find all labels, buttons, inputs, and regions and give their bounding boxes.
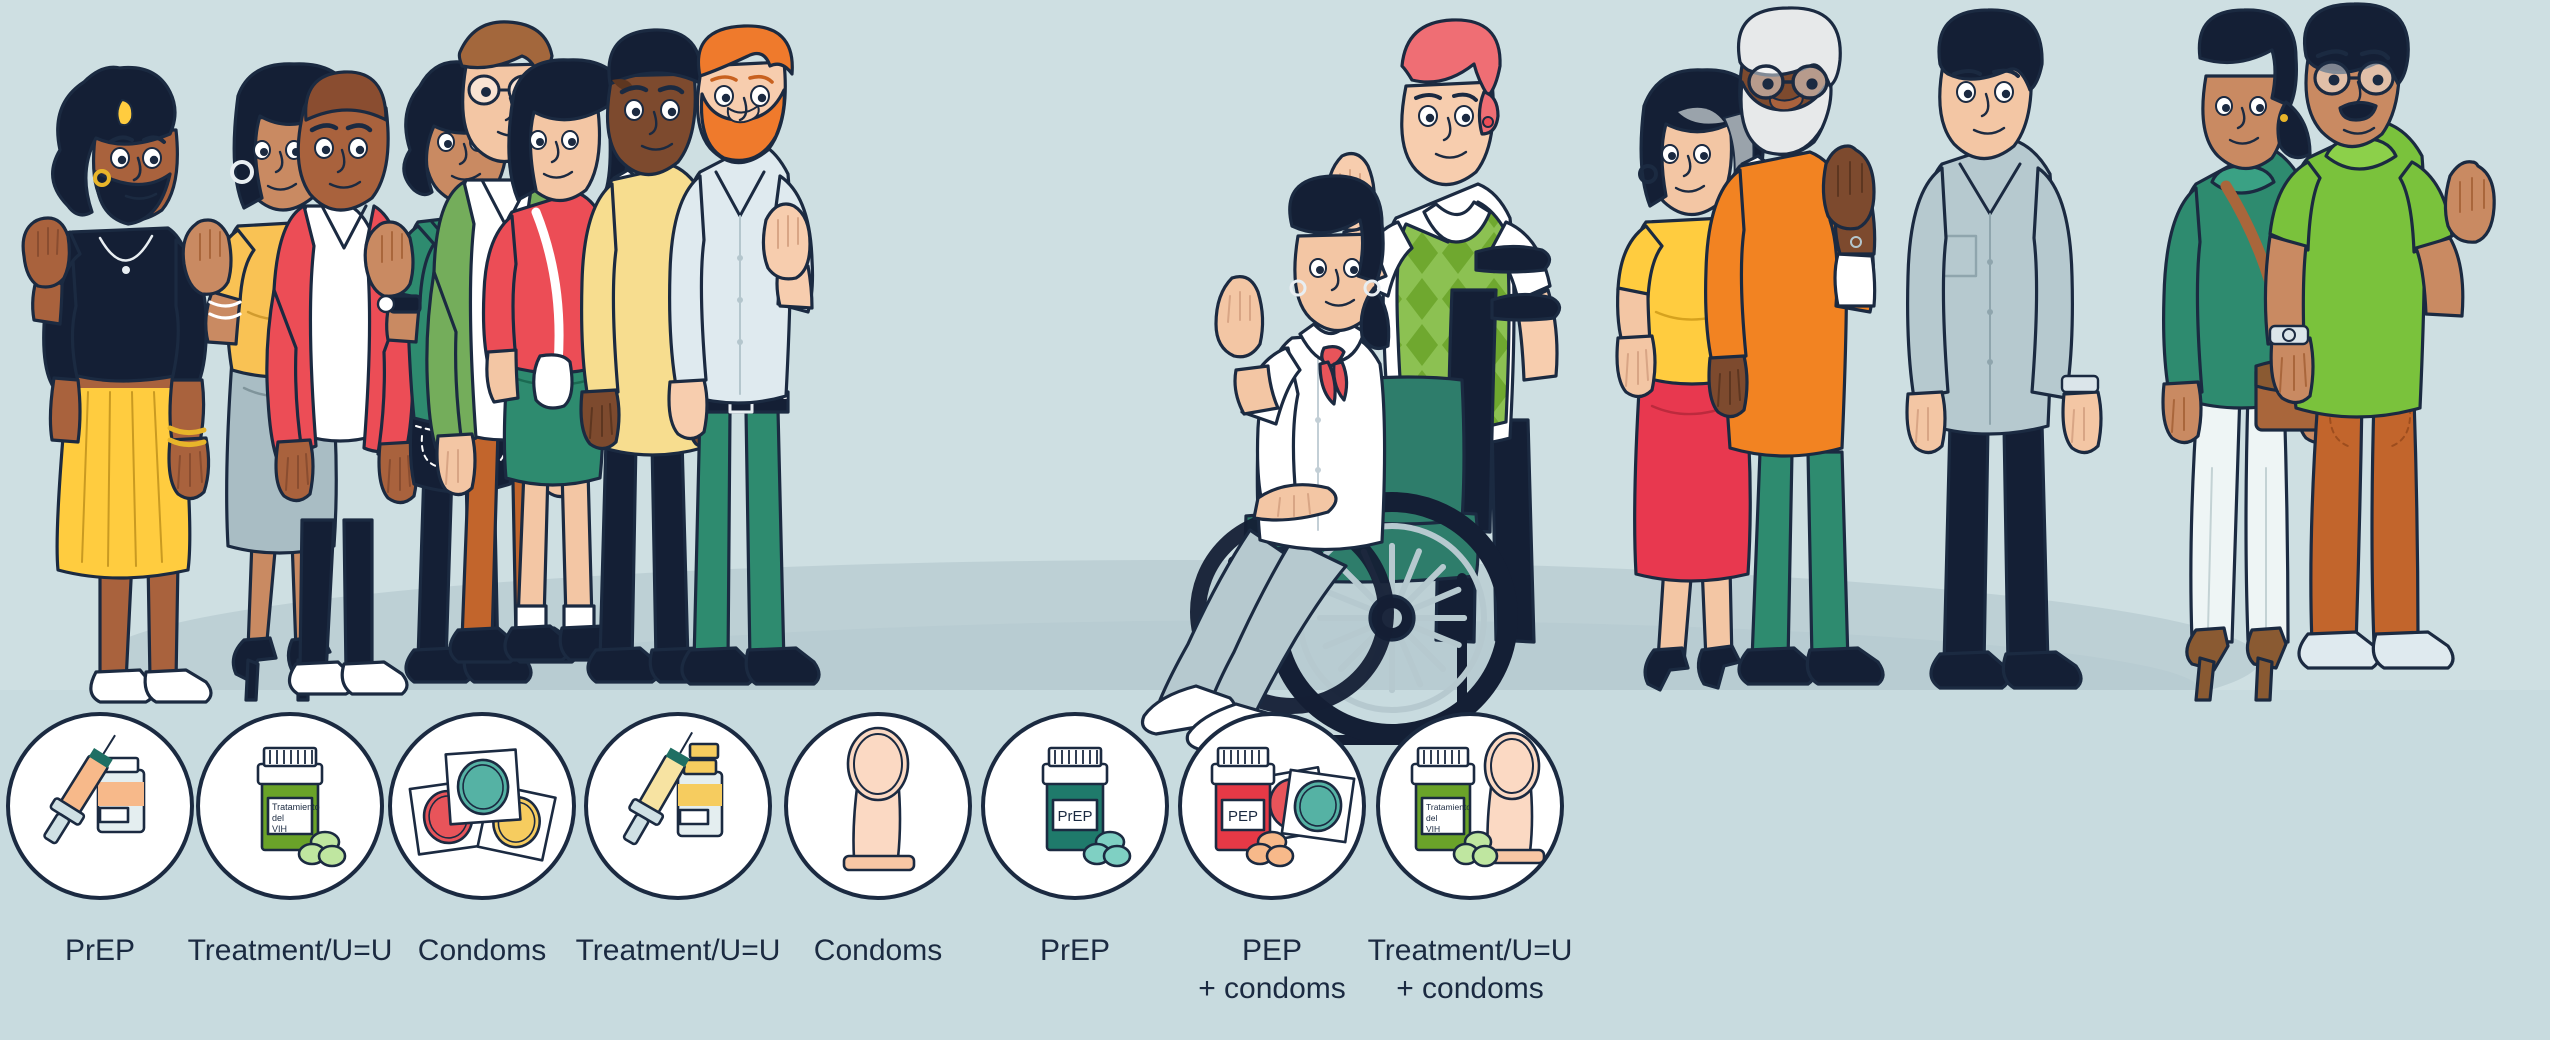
bottle-label-line-1: Tratamiento	[272, 802, 320, 812]
bottle-label-line-3: VIH	[1426, 824, 1440, 834]
bottle-label-prep: PrEP	[1057, 808, 1092, 825]
option-label-8-line2: + condoms	[1396, 972, 1544, 1005]
option-circle-condoms-3[interactable]	[390, 714, 574, 898]
option-circle-treatment-condoms-8[interactable]: Tratamiento del VIH	[1378, 714, 1562, 898]
option-label-7-line1: PEP	[1242, 934, 1302, 967]
option-circle-prep-6[interactable]: PrEP	[983, 714, 1167, 898]
option-label-8-line1: Treatment/U=U	[1368, 934, 1573, 967]
option-label-5-line1: Condoms	[814, 934, 942, 967]
bottle-label-pep: PEP	[1228, 808, 1258, 825]
bottle-label-line-2: del	[1426, 813, 1437, 823]
option-label-4-line1: Treatment/U=U	[576, 934, 781, 967]
option-circle-pep-7[interactable]: PEP	[1180, 714, 1364, 898]
bottle-label-line-1: Tratamiento	[1426, 802, 1471, 812]
option-label-3-line1: Condoms	[418, 934, 546, 967]
option-label-6-line1: PrEP	[1040, 934, 1110, 967]
infographic-canvas: Tratamiento del VIH	[0, 0, 2550, 1040]
option-circle-treatment-4[interactable]	[586, 714, 770, 898]
illustration-scene: Tratamiento del VIH	[0, 0, 2550, 1040]
option-label-2-line1: Treatment/U=U	[188, 934, 393, 967]
option-circle-prep-1[interactable]	[8, 714, 192, 898]
option-label-1-line1: PrEP	[65, 934, 135, 967]
option-circle-treatment-2[interactable]: Tratamiento del VIH	[198, 714, 382, 898]
bottle-label-line-3: VIH	[272, 824, 287, 834]
option-label-7-line2: + condoms	[1198, 972, 1346, 1005]
option-circle-condoms-5[interactable]	[786, 714, 970, 898]
bottle-label-line-2: del	[272, 813, 284, 823]
